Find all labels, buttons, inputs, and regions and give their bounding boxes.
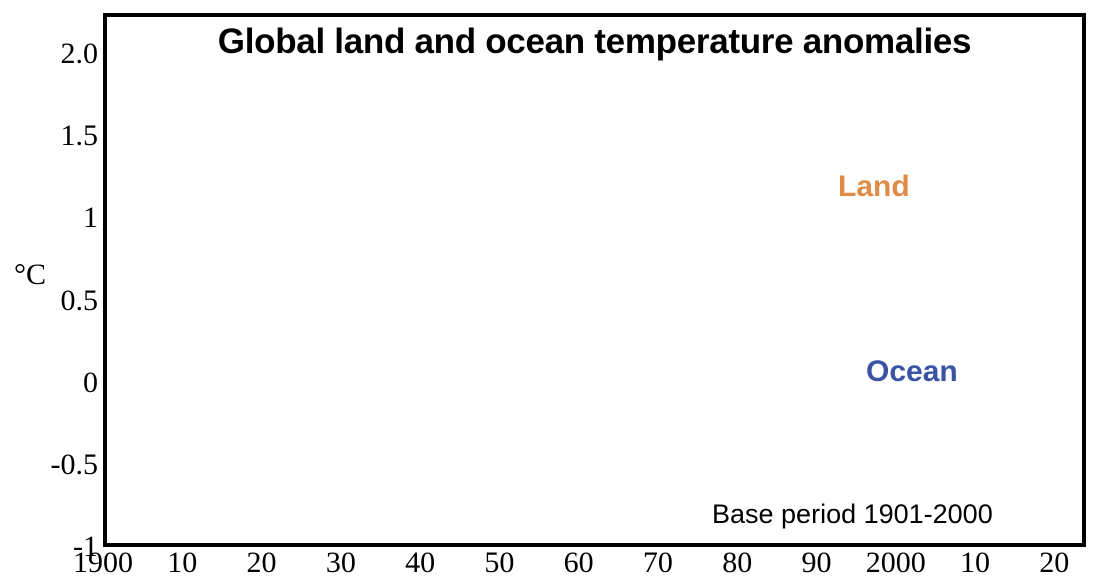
base-period-annotation: Base period 1901-2000: [712, 499, 993, 530]
x-axis-tick-labels: 190010203040506070809020001020: [0, 548, 1109, 586]
chart-title: Global land and ocean temperature anomal…: [103, 22, 1086, 62]
x-tick-label: 80: [722, 548, 752, 578]
y-tick-label: 1.5: [6, 121, 98, 151]
y-axis-tick-labels: 2.01.510.50-0.5-1: [0, 0, 98, 586]
y-tick-label: 2.0: [6, 39, 98, 69]
x-tick-label: 20: [1039, 548, 1069, 578]
x-tick-label: 50: [484, 548, 514, 578]
x-tick-label: 1900: [73, 548, 133, 578]
y-tick-label: 0: [6, 368, 98, 398]
x-tick-label: 90: [801, 548, 831, 578]
x-tick-label: 10: [167, 548, 197, 578]
y-tick-label: 1: [6, 203, 98, 233]
x-tick-label: 60: [564, 548, 594, 578]
ocean-series-label: Ocean: [866, 355, 958, 389]
x-tick-label: 70: [643, 548, 673, 578]
x-tick-label: 10: [960, 548, 990, 578]
x-tick-label: 30: [326, 548, 356, 578]
x-tick-label: 2000: [866, 548, 926, 578]
x-tick-label: 40: [405, 548, 435, 578]
plot-frame-border: [103, 13, 1086, 547]
y-tick-label: -0.5: [6, 450, 98, 480]
temperature-anomaly-chart: Global land and ocean temperature anomal…: [0, 0, 1109, 586]
x-tick-label: 20: [247, 548, 277, 578]
land-series-label: Land: [838, 170, 910, 204]
y-axis-title: °C: [14, 258, 46, 292]
